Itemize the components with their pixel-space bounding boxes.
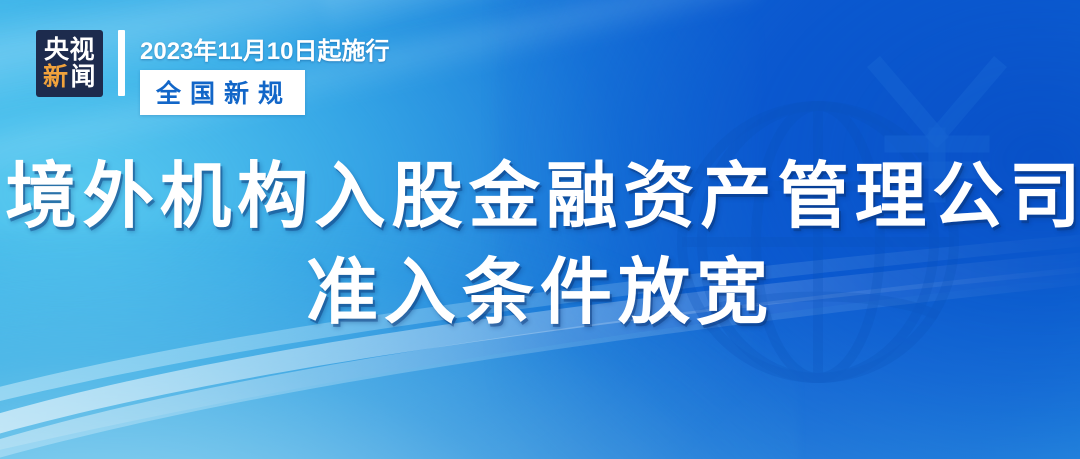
header-text-block: 2023年11月10日起施行 全国新规 [140, 30, 389, 115]
logo-char-xin: 新 [43, 65, 69, 90]
logo-line-cctv: 央视 [44, 38, 95, 63]
news-poster: 央视 新 闻 2023年11月10日起施行 全国新规 境外机构入股金融资产管理公… [0, 0, 1080, 459]
logo-char-wen: 闻 [71, 65, 97, 90]
effective-date-label: 2023年11月10日起施行 [140, 31, 389, 66]
cctv-news-logo[interactable]: 央视 新 闻 [36, 30, 103, 97]
national-new-rules-banner: 全国新规 [140, 70, 305, 115]
header-divider [118, 30, 125, 96]
logo-line-news: 新 闻 [43, 65, 96, 90]
header: 央视 新 闻 2023年11月10日起施行 全国新规 [36, 30, 389, 115]
background-light-pool-bottom-left [0, 230, 799, 459]
